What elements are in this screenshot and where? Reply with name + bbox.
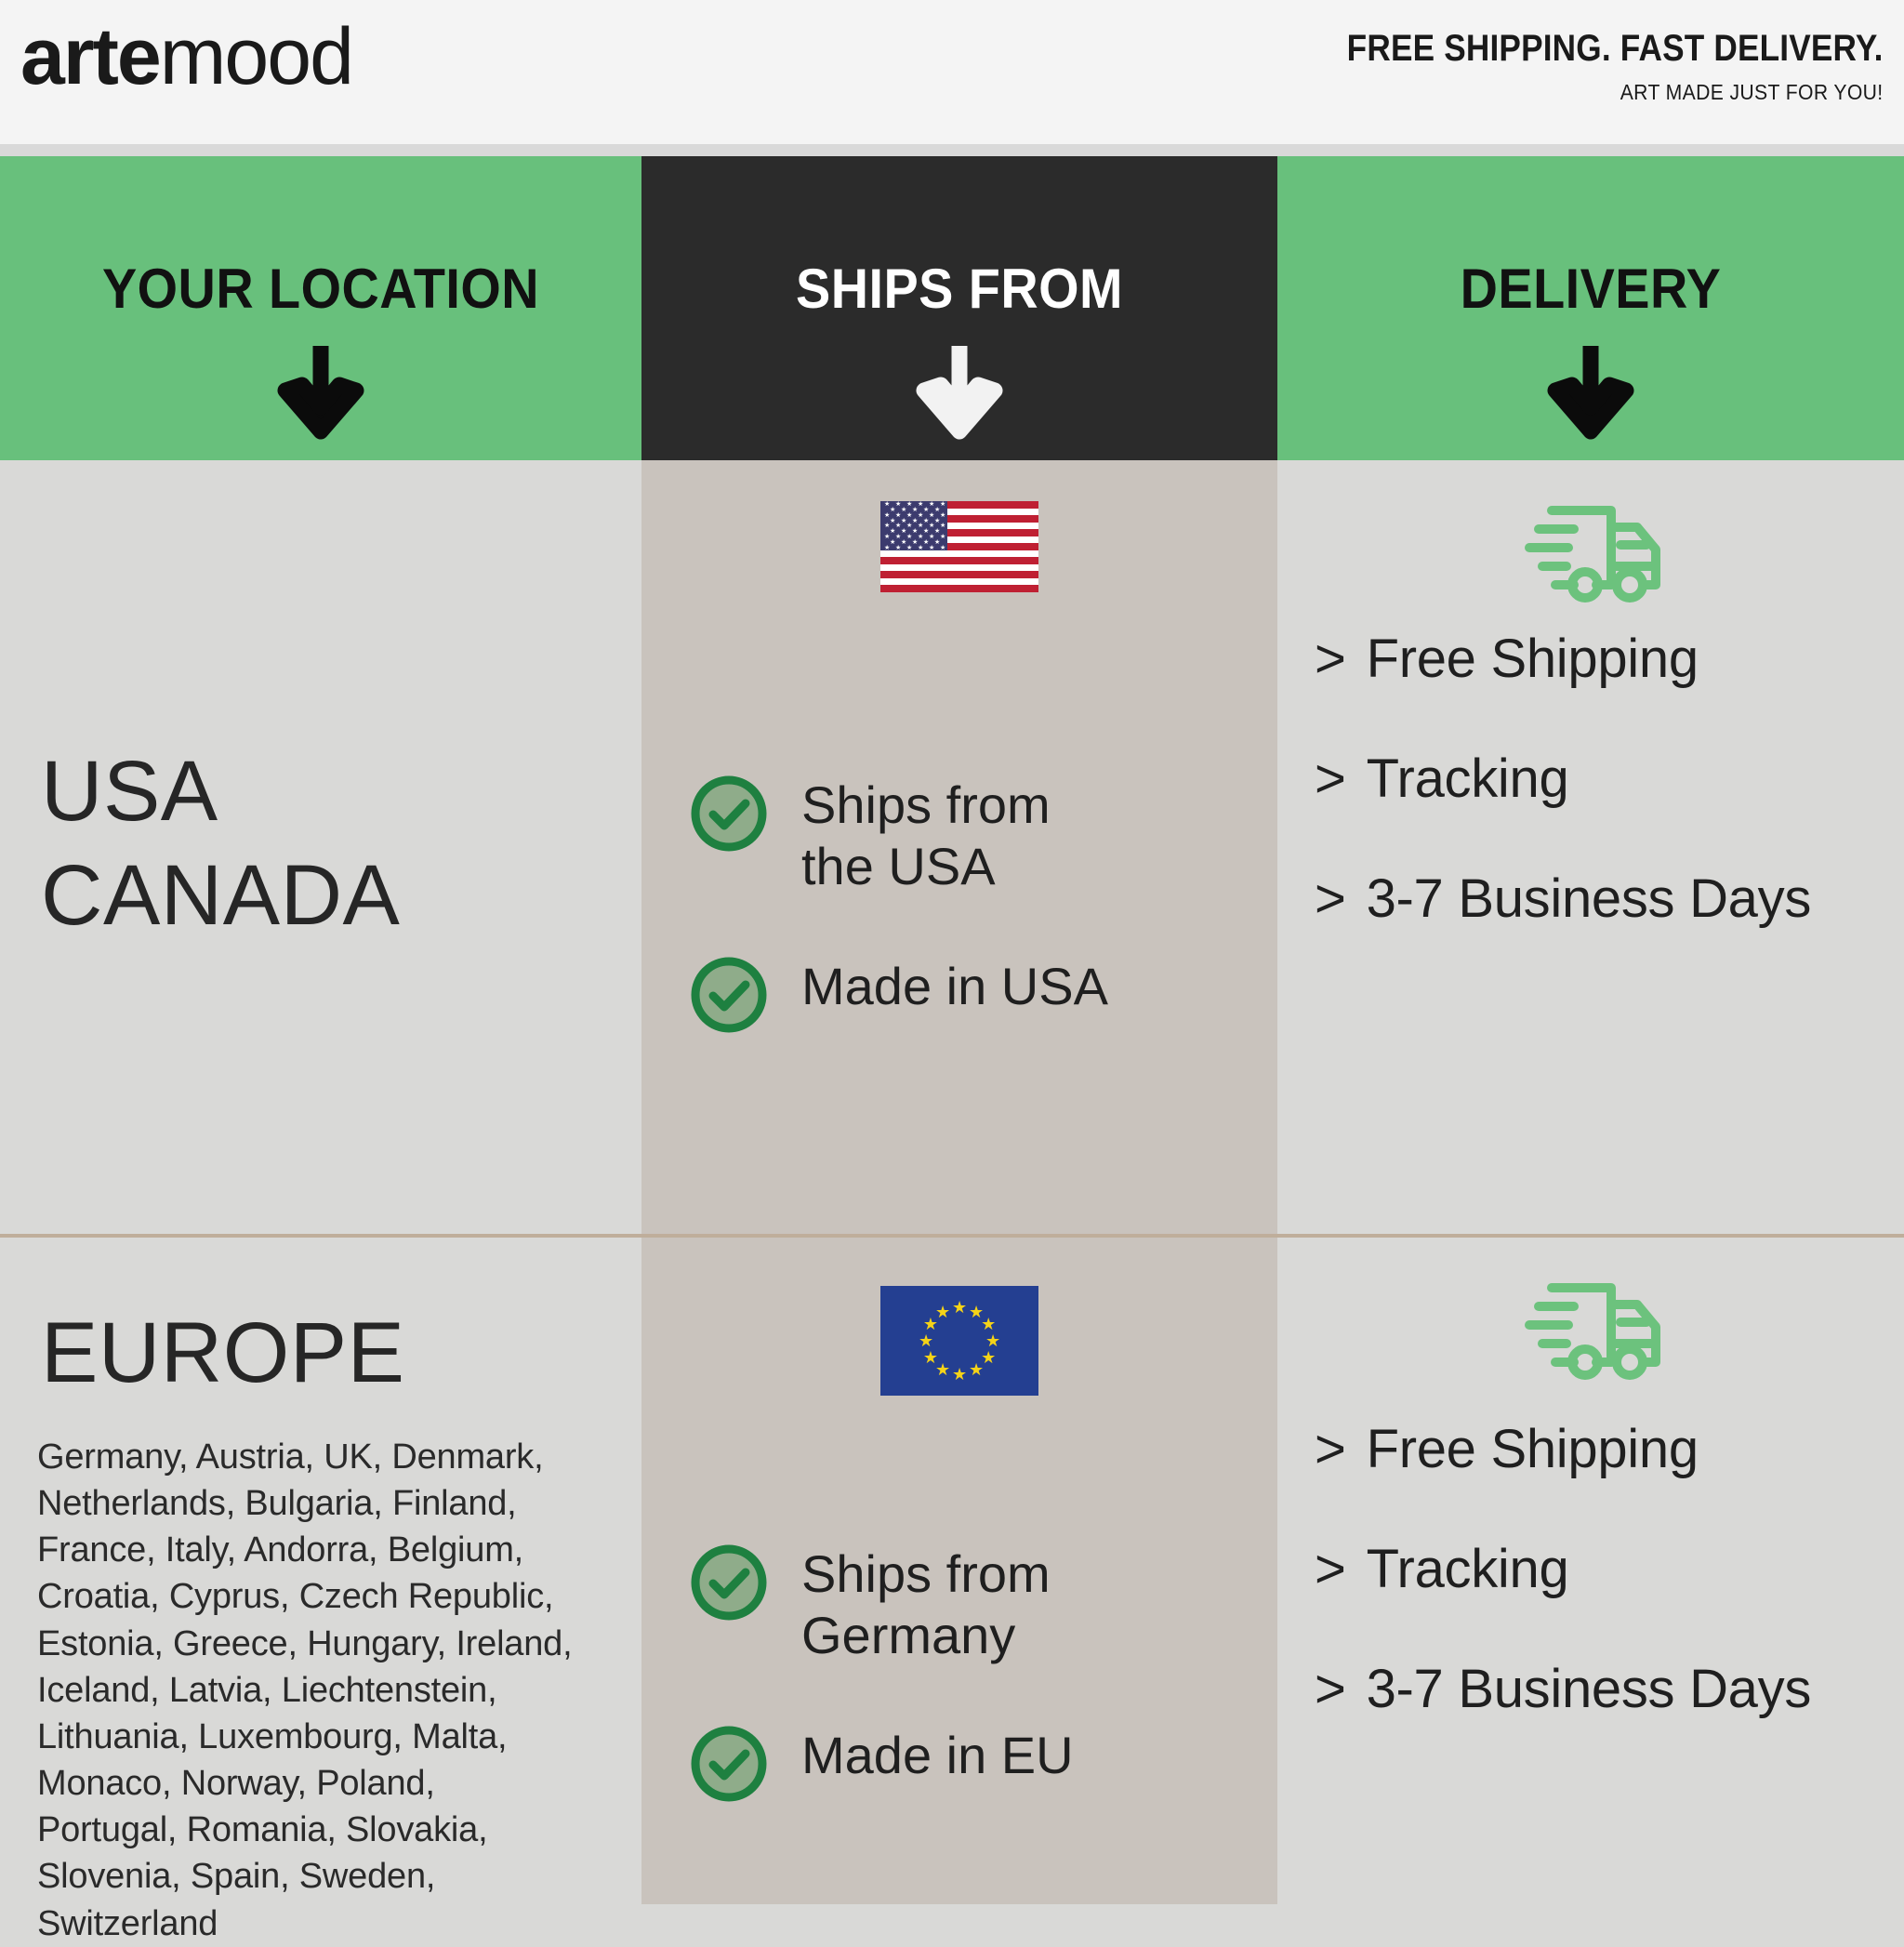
column-header-row: YOUR LOCATION SHIPS FROM DELIVERY — [0, 156, 1904, 460]
header-cell-ships-from: SHIPS FROM — [641, 156, 1277, 460]
check-label-line1: Ships from — [801, 775, 1051, 834]
chevron-right-icon: > — [1315, 1538, 1346, 1600]
tagline-secondary: ART MADE JUST FOR YOU! — [1323, 80, 1884, 105]
logo-bold-part: arte — [20, 12, 160, 101]
delivery-item-label: Tracking — [1367, 748, 1569, 809]
header-title-ships-from: SHIPS FROM — [664, 257, 1255, 321]
delivery-item-label: Free Shipping — [1367, 1419, 1699, 1479]
list-item: Made in USA — [688, 948, 1108, 1036]
delivery-feature-list-europe: >Free Shipping >Tracking >3-7 Business D… — [1315, 1418, 1895, 1720]
delivery-truck-icon — [1277, 1271, 1904, 1392]
header-divider — [0, 144, 1904, 156]
delivery-item-label: 3-7 Business Days — [1367, 1659, 1811, 1719]
ships-from-cell-europe: ★★★★★★★★★★★★ Ships from Germany — [641, 1234, 1277, 1904]
check-label: Ships from the USA — [801, 767, 1051, 897]
ships-from-checklist-europe: Ships from Germany Made in EU — [688, 1536, 1074, 1805]
header-title-your-location: YOUR LOCATION — [22, 257, 619, 321]
list-item: >3-7 Business Days — [1315, 868, 1895, 930]
check-circle-icon — [688, 1542, 770, 1623]
location-label-europe: EUROPE — [41, 1310, 405, 1396]
arrow-down-icon — [641, 340, 1277, 444]
location-cell-usa-canada: USA CANADA — [0, 460, 641, 1234]
header-cell-delivery: DELIVERY — [1277, 156, 1904, 460]
delivery-cell-usa: >Free Shipping >Tracking >3-7 Business D… — [1277, 460, 1904, 1234]
chevron-right-icon: > — [1315, 868, 1346, 930]
country-line: Netherlands, Bulgaria, Finland, — [37, 1480, 614, 1527]
country-line: Portugal, Romania, Slovakia, — [37, 1807, 614, 1853]
country-line: Slovenia, Spain, Sweden, — [37, 1853, 614, 1900]
list-item: Ships from Germany — [688, 1536, 1074, 1666]
check-label: Ships from Germany — [801, 1536, 1051, 1666]
check-label-line1: Ships from — [801, 1544, 1051, 1603]
chevron-right-icon: > — [1315, 628, 1346, 690]
list-item: >Tracking — [1315, 748, 1895, 810]
check-circle-icon — [688, 773, 770, 854]
delivery-truck-icon — [1277, 494, 1904, 615]
chevron-right-icon: > — [1315, 1418, 1346, 1480]
country-line: Monaco, Norway, Poland, — [37, 1760, 614, 1807]
arrow-down-icon — [0, 340, 641, 444]
brand-header-bar: artemood FREE SHIPPING. FAST DELIVERY. A… — [0, 0, 1904, 144]
list-item: >Free Shipping — [1315, 628, 1895, 690]
country-line: Croatia, Cyprus, Czech Republic, — [37, 1573, 614, 1620]
eu-flag-icon: ★★★★★★★★★★★★ — [641, 1286, 1277, 1396]
row-divider — [0, 1234, 1904, 1238]
location-line-canada: CANADA — [41, 843, 400, 947]
check-label-line2: Germany — [801, 1606, 1015, 1664]
delivery-cell-europe: >Free Shipping >Tracking >3-7 Business D… — [1277, 1234, 1904, 1904]
header-cell-your-location: YOUR LOCATION — [0, 156, 641, 460]
country-line: Germany, Austria, UK, Denmark, — [37, 1434, 614, 1480]
location-line-usa: USA — [41, 739, 400, 843]
check-circle-icon — [688, 954, 770, 1036]
delivery-feature-list-usa: >Free Shipping >Tracking >3-7 Business D… — [1315, 628, 1895, 930]
usa-flag-icon: ★★★★★★★★★★★★★★★★★★★★★★★★★★★★★★★★★★★★★★★★… — [641, 501, 1277, 592]
chevron-right-icon: > — [1315, 1658, 1346, 1720]
list-item: >Free Shipping — [1315, 1418, 1895, 1480]
country-line: Estonia, Greece, Hungary, Ireland, — [37, 1621, 614, 1667]
list-item: Made in EU — [688, 1717, 1074, 1805]
country-line: Iceland, Latvia, Liechtenstein, — [37, 1667, 614, 1714]
check-label-line2: the USA — [801, 837, 996, 895]
location-label-usa-canada: USA CANADA — [41, 739, 400, 947]
delivery-item-label: Tracking — [1367, 1539, 1569, 1599]
country-line: Lithuania, Luxembourg, Malta, — [37, 1714, 614, 1760]
artemood-logo: artemood — [20, 17, 352, 97]
country-line: France, Italy, Andorra, Belgium, — [37, 1527, 614, 1573]
table-row-usa-canada: USA CANADA ★★★★★★★★★★★★★★★★★★★★★★★★★★★★★… — [0, 460, 1904, 1234]
country-line: Switzerland — [37, 1901, 614, 1947]
list-item: Ships from the USA — [688, 767, 1108, 897]
delivery-item-label: Free Shipping — [1367, 629, 1699, 689]
list-item: >Tracking — [1315, 1538, 1895, 1600]
ships-from-checklist-usa: Ships from the USA Made in USA — [688, 767, 1108, 1036]
tagline-primary: FREE SHIPPING. FAST DELIVERY. — [1347, 28, 1884, 70]
ships-from-cell-usa: ★★★★★★★★★★★★★★★★★★★★★★★★★★★★★★★★★★★★★★★★… — [641, 460, 1277, 1234]
header-title-delivery: DELIVERY — [1300, 257, 1883, 321]
arrow-down-icon — [1277, 340, 1904, 444]
check-circle-icon — [688, 1723, 770, 1805]
chevron-right-icon: > — [1315, 748, 1346, 810]
table-row-europe: EUROPE Germany, Austria, UK, Denmark, Ne… — [0, 1234, 1904, 1904]
header-taglines: FREE SHIPPING. FAST DELIVERY. ART MADE J… — [1274, 28, 1884, 105]
shipping-info-infographic: artemood FREE SHIPPING. FAST DELIVERY. A… — [0, 0, 1904, 1904]
list-item: >3-7 Business Days — [1315, 1658, 1895, 1720]
logo-regular-part: mood — [160, 12, 352, 101]
check-label: Made in EU — [801, 1717, 1074, 1786]
check-label: Made in USA — [801, 948, 1108, 1017]
delivery-item-label: 3-7 Business Days — [1367, 868, 1811, 929]
location-cell-europe: EUROPE Germany, Austria, UK, Denmark, Ne… — [0, 1234, 641, 1904]
europe-country-list: Germany, Austria, UK, Denmark, Netherlan… — [37, 1434, 614, 1947]
